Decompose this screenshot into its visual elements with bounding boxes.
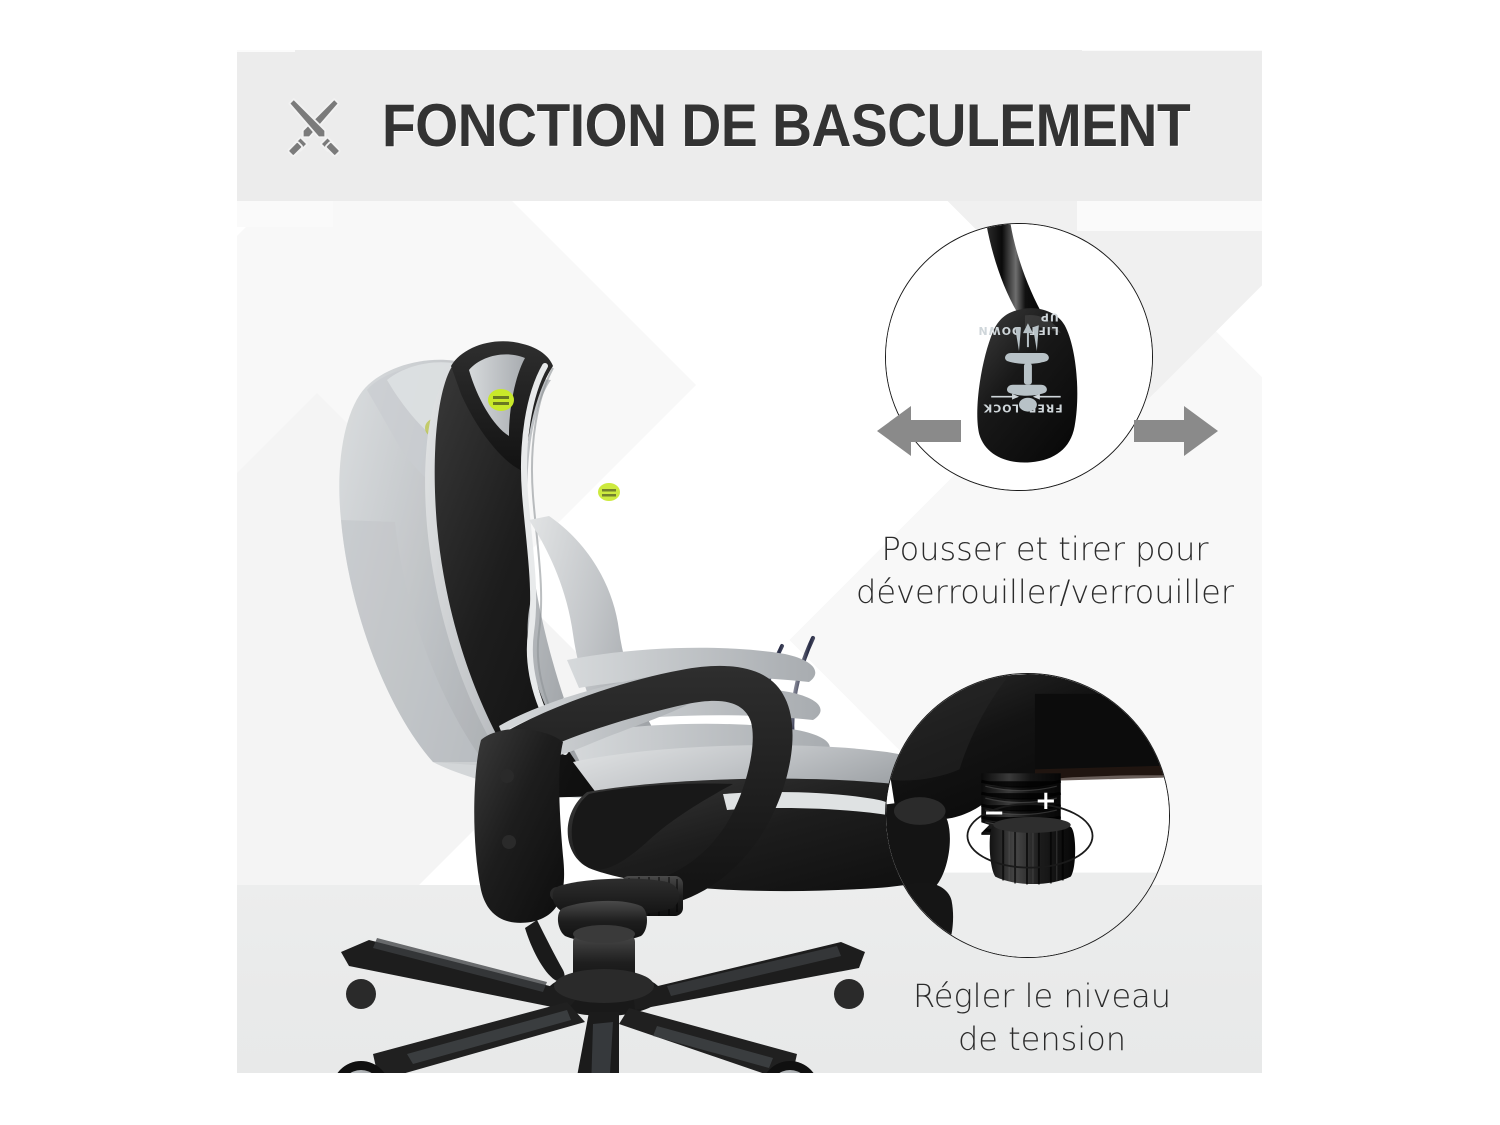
svg-text:−: − bbox=[983, 798, 1005, 828]
tilt-lever-caption: Pousser et tirer pour déverrouiller/verr… bbox=[845, 528, 1245, 613]
arrow-left-icon bbox=[877, 402, 961, 460]
screenshot-root: FREE LOCK UP LIFT DOWN bbox=[0, 0, 1500, 1125]
page-title: FONCTION DE BASCULEMENT bbox=[382, 91, 1190, 160]
header-shadow-right bbox=[1077, 201, 1262, 231]
svg-text:+: + bbox=[1035, 786, 1057, 816]
feature-header: FONCTION DE BASCULEMENT bbox=[237, 50, 1262, 201]
feature-panel: FREE LOCK UP LIFT DOWN bbox=[237, 50, 1262, 1073]
tilt-lever-caption-line1: Pousser et tirer pour bbox=[845, 528, 1245, 571]
tension-knob-inset: + − bbox=[885, 673, 1170, 958]
svg-text:DOWN: DOWN bbox=[978, 324, 1021, 337]
crossed-swords-icon bbox=[278, 90, 350, 162]
tension-knob-caption-line2: de tension bbox=[877, 1018, 1207, 1061]
arrow-right-icon bbox=[1134, 402, 1218, 460]
svg-text:LOCK: LOCK bbox=[983, 402, 1019, 415]
tension-knob-caption: Régler le niveau de tension bbox=[877, 975, 1207, 1060]
header-notch-right bbox=[1082, 50, 1262, 51]
svg-text:LIFT: LIFT bbox=[1029, 324, 1059, 337]
svg-text:UP: UP bbox=[1040, 310, 1059, 323]
tilt-lever-caption-line2: déverrouiller/verrouiller bbox=[845, 571, 1245, 614]
header-shadow-left bbox=[237, 201, 333, 227]
tension-knob-caption-line1: Régler le niveau bbox=[877, 975, 1207, 1018]
